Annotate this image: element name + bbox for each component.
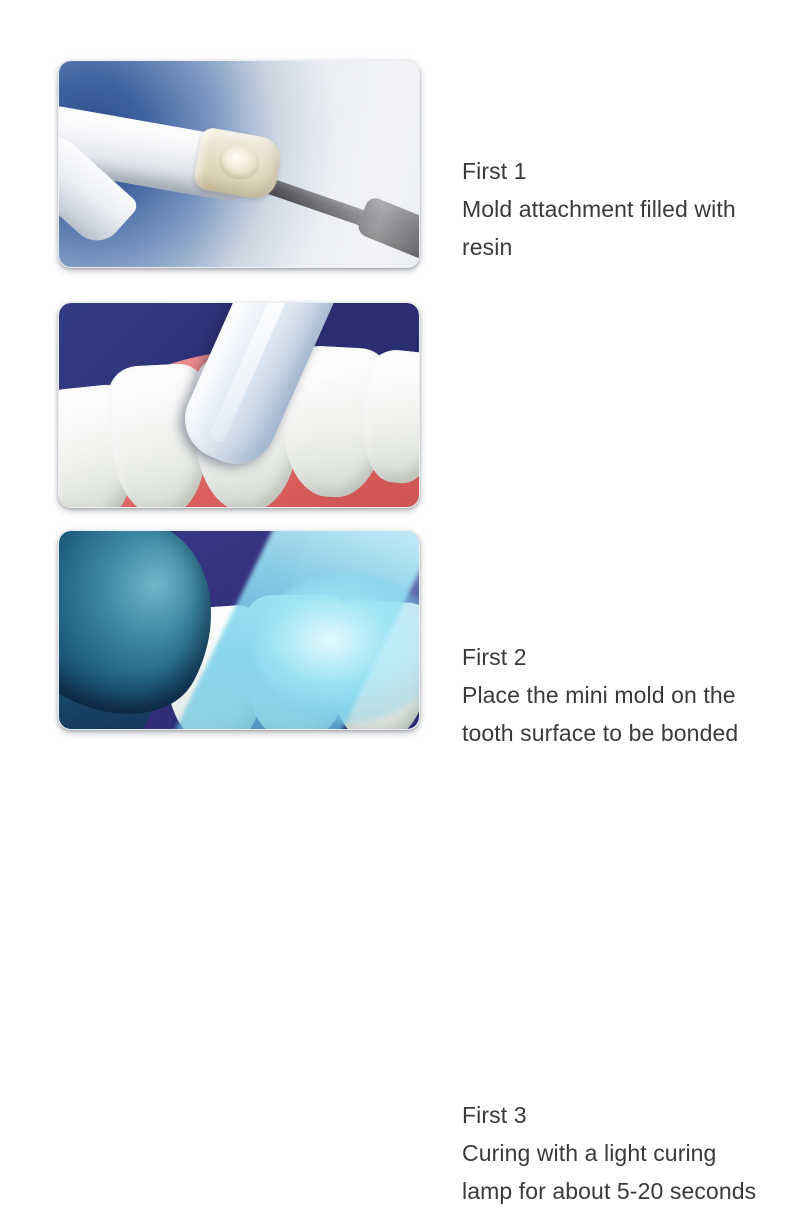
step-1-image-panel xyxy=(58,60,420,268)
step-row-3: First 3 Curing with a light curing lamp … xyxy=(0,530,800,730)
step-3-image-panel xyxy=(58,530,420,730)
step-2-image xyxy=(59,303,419,507)
step-1-description: Mold attachment filled with resin xyxy=(462,190,762,266)
step-1-title: First 1 xyxy=(462,152,762,190)
step-3-image xyxy=(59,531,419,729)
step-1-image xyxy=(59,61,419,267)
panel-1-sheen xyxy=(59,61,419,267)
step-3-text: First 3 Curing with a light curing lamp … xyxy=(462,1096,762,1210)
step-2-image-panel xyxy=(58,302,420,508)
instruction-infographic: First 1 Mold attachment filled with resi… xyxy=(0,0,800,800)
step-row-2: First 2 Place the mini mold on the tooth… xyxy=(0,302,800,508)
step-row-1: First 1 Mold attachment filled with resi… xyxy=(0,60,800,268)
step-1-text: First 1 Mold attachment filled with resi… xyxy=(462,152,762,266)
step-3-title: First 3 xyxy=(462,1096,762,1134)
step-3-description: Curing with a light curing lamp for abou… xyxy=(462,1134,762,1210)
